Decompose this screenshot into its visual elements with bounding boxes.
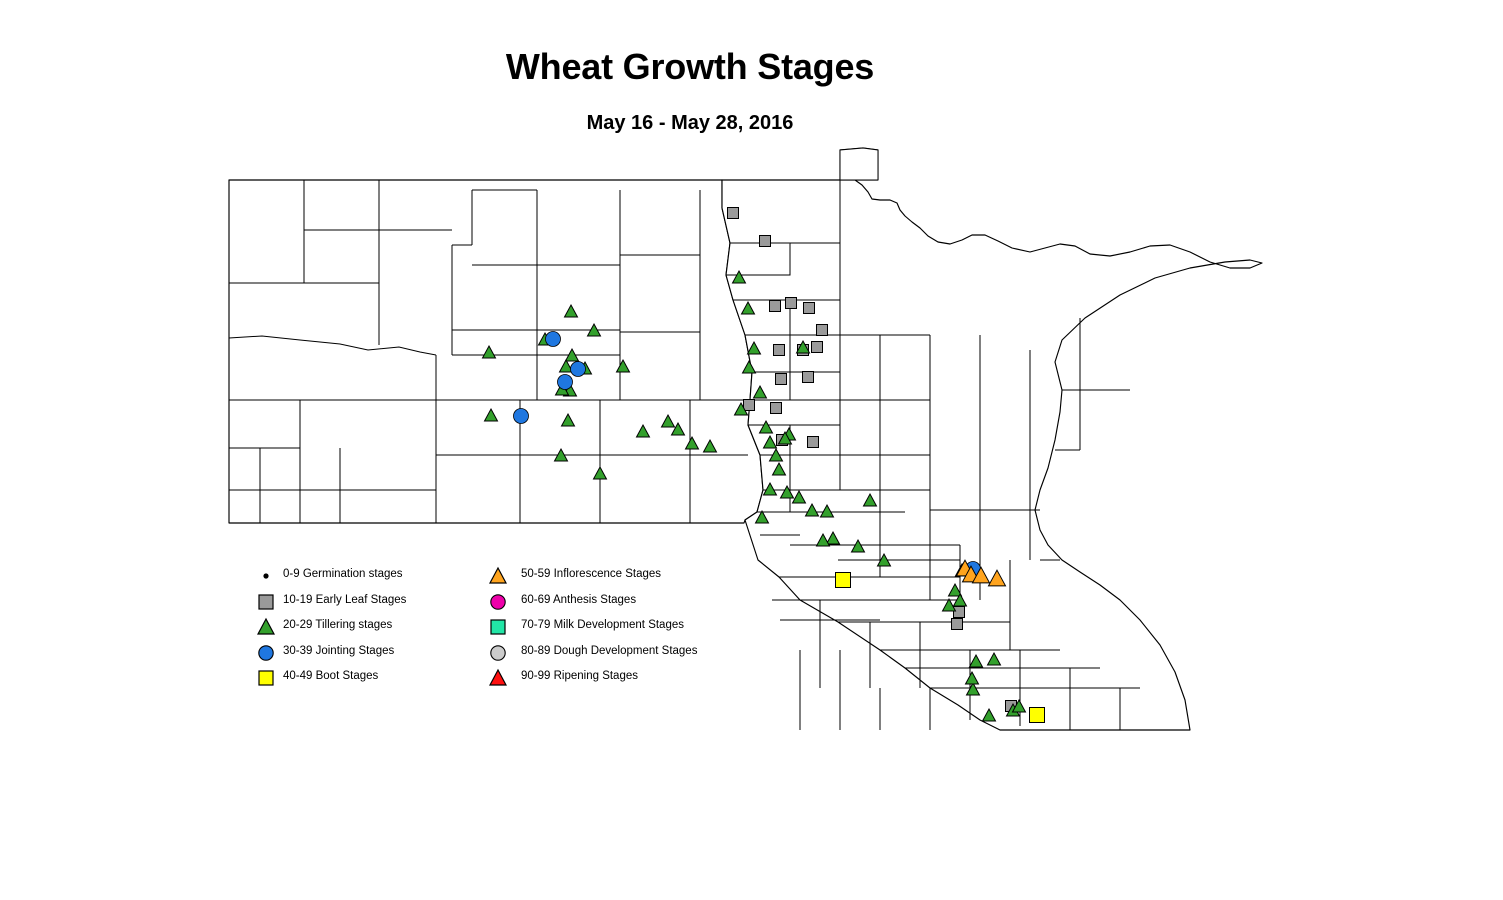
early-leaf-marker [808, 437, 819, 448]
legend-item-label: 90-99 Ripening Stages [521, 670, 638, 682]
map-svg [0, 0, 1503, 900]
early-leaf-marker [760, 236, 771, 247]
red-triangle-icon [487, 667, 513, 689]
gray-square-icon [255, 591, 281, 613]
map-canvas [0, 0, 1503, 900]
legend-item-label: 50-59 Inflorescence Stages [521, 568, 661, 580]
early-leaf-marker [771, 403, 782, 414]
wheat-growth-stages-map-page: Wheat Growth Stages May 16 - May 28, 201… [0, 0, 1503, 900]
legend-item-label: 30-39 Jointing Stages [283, 645, 394, 657]
legend-item-label: 70-79 Milk Development Stages [521, 619, 684, 631]
magenta-circle-icon [487, 591, 513, 613]
early-leaf-marker [728, 208, 739, 219]
legend-item-label: 60-69 Anthesis Stages [521, 594, 636, 606]
early-leaf-marker [954, 607, 965, 618]
legend-item-label: 10-19 Early Leaf Stages [283, 594, 406, 606]
orange-triangle-icon [487, 565, 513, 587]
small-black-dot-icon [255, 565, 281, 587]
north-dakota-counties [229, 180, 763, 523]
early-leaf-marker [812, 342, 823, 353]
jointing-marker [546, 332, 561, 347]
boot-marker [1030, 708, 1045, 723]
legend-item-label: 40-49 Boot Stages [283, 670, 378, 682]
early-leaf-marker [952, 619, 963, 630]
legend-item-label: 80-89 Dough Development Stages [521, 645, 697, 657]
legend-item-label: 0-9 Germination stages [283, 568, 403, 580]
lightgray-circle-icon [487, 642, 513, 664]
jointing-marker [514, 409, 529, 424]
minnesota-counties [722, 148, 1262, 730]
jointing-marker [571, 362, 586, 377]
early-leaf-marker [774, 345, 785, 356]
jointing-marker [558, 375, 573, 390]
early-leaf-marker [817, 325, 828, 336]
early-leaf-marker [744, 400, 755, 411]
boot-marker [836, 573, 851, 588]
yellow-square-icon [255, 667, 281, 689]
early-leaf-marker [803, 372, 814, 383]
early-leaf-marker [770, 301, 781, 312]
early-leaf-marker [776, 374, 787, 385]
legend-item-label: 20-29 Tillering stages [283, 619, 392, 631]
map-legend: 0-9 Germination stages10-19 Early Leaf S… [255, 565, 725, 705]
green-triangle-icon [255, 616, 281, 638]
early-leaf-marker [804, 303, 815, 314]
springgreen-square-icon [487, 616, 513, 638]
blue-circle-icon [255, 642, 281, 664]
early-leaf-marker [786, 298, 797, 309]
